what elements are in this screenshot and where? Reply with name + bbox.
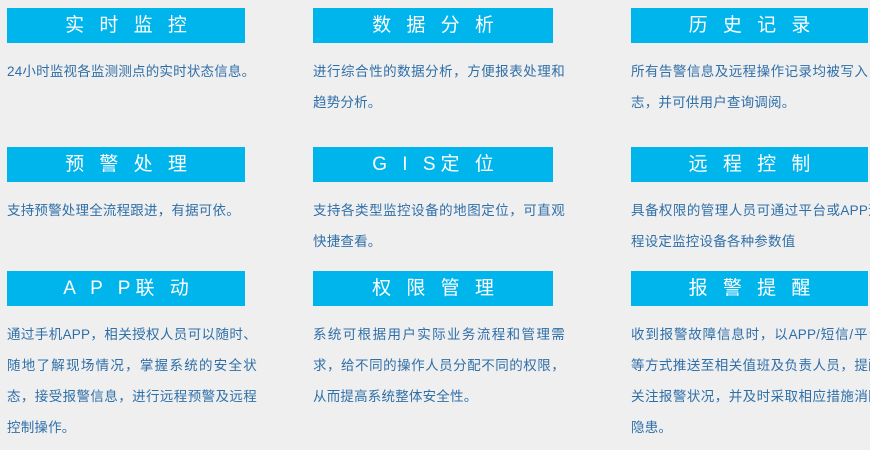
card-title-bar: 数 据 分 析 (313, 8, 553, 43)
card-title-bar: 远 程 控 制 (631, 147, 868, 182)
feature-card-remote-control: 远 程 控 制 具备权限的管理人员可通过平台或APP远程设定监控设备各种参数值 (618, 139, 870, 264)
card-body-text: 通过手机APP，相关授权人员可以随时、随地了解现场情况，掌握系统的安全状态，接受… (7, 319, 257, 443)
feature-card-data-analysis: 数 据 分 析 进行综合性的数据分析，方便报表处理和趋势分析。 (306, 0, 618, 139)
card-body-text: 收到报警故障信息时，以APP/短信/平台等方式推送至相关值班及负责人员，提醒关注… (631, 319, 870, 443)
card-body-text: 24小时监视各监测测点的实时状态信息。 (7, 56, 257, 87)
card-body-text: 所有告警信息及远程操作记录均被写入日志，并可供用户查询调阅。 (631, 56, 870, 118)
feature-card-realtime-monitoring: 实 时 监 控 24小时监视各监测测点的实时状态信息。 (0, 0, 306, 139)
card-body-text: 进行综合性的数据分析，方便报表处理和趋势分析。 (313, 56, 565, 118)
card-title-bar: 实 时 监 控 (7, 8, 245, 43)
card-body-text: 具备权限的管理人员可通过平台或APP远程设定监控设备各种参数值 (631, 195, 870, 257)
card-title-bar: 权 限 管 理 (313, 271, 553, 306)
feature-card-grid: 实 时 监 控 24小时监视各监测测点的实时状态信息。 数 据 分 析 进行综合… (0, 0, 870, 450)
card-title-bar: G I S定 位 (313, 147, 553, 182)
card-body-text: 支持预警处理全流程跟进，有据可依。 (7, 195, 257, 226)
card-title-bar: 报 警 提 醒 (631, 271, 868, 306)
feature-card-gis-positioning: G I S定 位 支持各类型监控设备的地图定位，可直观快捷查看。 (306, 139, 618, 264)
card-body-text: 系统可根据用户实际业务流程和管理需求，给不同的操作人员分配不同的权限，从而提高系… (313, 319, 565, 412)
feature-card-permission-management: 权 限 管 理 系统可根据用户实际业务流程和管理需求，给不同的操作人员分配不同的… (306, 264, 618, 450)
card-body-text: 支持各类型监控设备的地图定位，可直观快捷查看。 (313, 195, 565, 257)
feature-grid-board: 实 时 监 控 24小时监视各监测测点的实时状态信息。 数 据 分 析 进行综合… (0, 0, 870, 450)
feature-card-alarm-reminder: 报 警 提 醒 收到报警故障信息时，以APP/短信/平台等方式推送至相关值班及负… (618, 264, 870, 450)
card-title-bar: 历 史 记 录 (631, 8, 868, 43)
card-title-bar: 预 警 处 理 (7, 147, 245, 182)
feature-card-app-linkage: A P P联 动 通过手机APP，相关授权人员可以随时、随地了解现场情况，掌握系… (0, 264, 306, 450)
feature-card-history-records: 历 史 记 录 所有告警信息及远程操作记录均被写入日志，并可供用户查询调阅。 (618, 0, 870, 139)
feature-card-early-warning: 预 警 处 理 支持预警处理全流程跟进，有据可依。 (0, 139, 306, 264)
card-title-bar: A P P联 动 (7, 271, 245, 306)
